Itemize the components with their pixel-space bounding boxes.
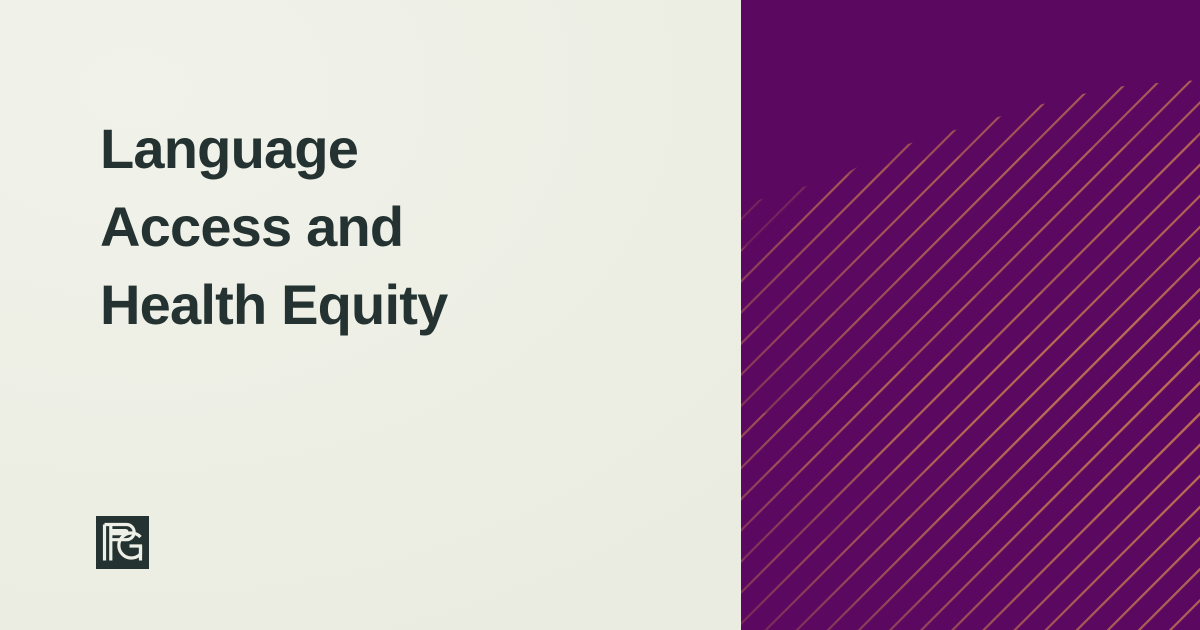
title-line-1: Language	[100, 110, 700, 188]
pg-logo-icon	[96, 516, 149, 569]
title-line-3: Health Equity	[100, 266, 700, 344]
title-card: Language Access and Health Equity	[0, 0, 1200, 630]
title-line-2: Access and	[100, 188, 700, 266]
content-panel: Language Access and Health Equity	[0, 0, 741, 630]
artwork-panel	[741, 0, 1200, 630]
page-title: Language Access and Health Equity	[100, 110, 700, 344]
